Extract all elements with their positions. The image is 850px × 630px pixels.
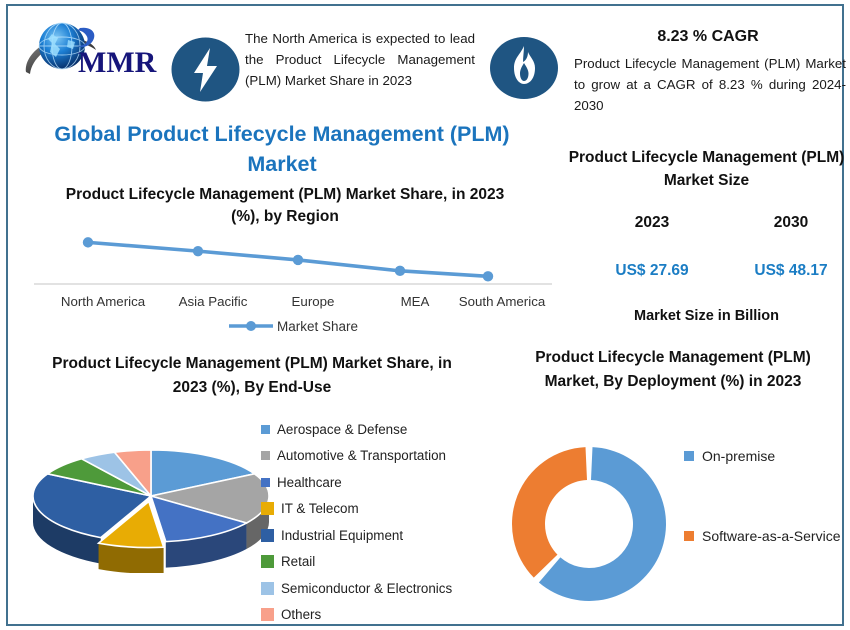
legend-swatch-semiconductor-electronics	[261, 582, 274, 595]
x-label-south-america: South America	[459, 294, 545, 309]
lightning-bolt-icon	[171, 35, 240, 109]
data-point-asia-pacific	[193, 246, 203, 256]
data-point-mea	[395, 266, 405, 276]
legend-label-market-share: Market Share	[277, 319, 358, 334]
x-label-north-america: North America	[61, 294, 145, 309]
line-chart-legend: Market Share	[28, 318, 558, 334]
legend-label-industrial-equipment: Industrial Equipment	[281, 528, 403, 543]
line-chart-title: Product Lifecycle Management (PLM) Marke…	[50, 184, 520, 228]
legend-item-retail: Retail	[261, 549, 501, 576]
legend-swatch-others	[261, 608, 274, 621]
legend-item-healthcare: Healthcare	[261, 469, 501, 496]
legend-label-others: Others	[281, 607, 321, 622]
legend-swatch-healthcare	[261, 478, 270, 487]
legend-label-software-as-a-service: Software-as-a-Service	[702, 526, 841, 546]
legend-item-software-as-a-service: Software-as-a-Service	[684, 526, 849, 546]
donut-slice-software-as-a-service	[512, 447, 587, 578]
mmr-logo: MMR	[22, 16, 172, 94]
legend-label-automotive-transportation: Automotive & Transportation	[277, 448, 446, 463]
legend-item-it-telecom: IT & Telecom	[261, 496, 501, 523]
infographic-frame: MMR The North America is expected to lea…	[6, 4, 844, 626]
svg-text:MMR: MMR	[78, 46, 157, 79]
legend-marker-market-share	[228, 320, 274, 332]
flame-icon	[489, 33, 559, 108]
legend-swatch-aerospace-defense	[261, 425, 270, 434]
end-use-pie-chart	[23, 438, 273, 573]
deployment-donut-chart	[505, 436, 675, 611]
market-size-title: Product Lifecycle Management (PLM) Marke…	[564, 146, 849, 192]
legend-swatch-retail	[261, 555, 274, 568]
market-size-value-2023: US$ 27.69	[592, 262, 712, 280]
x-label-europe: Europe	[292, 294, 335, 309]
legend-swatch-on-premise	[684, 451, 694, 461]
legend-label-aerospace-defense: Aerospace & Defense	[277, 422, 407, 437]
legend-label-healthcare: Healthcare	[277, 475, 342, 490]
page-title: Global Product Lifecycle Management (PLM…	[32, 119, 532, 179]
north-america-highlight-text: The North America is expected to lead th…	[245, 28, 475, 91]
legend-item-semiconductor-electronics: Semiconductor & Electronics	[261, 575, 501, 602]
deployment-donut-legend: On-premise Software-as-a-Service	[684, 446, 849, 546]
market-size-year-2030: 2030	[736, 214, 846, 232]
line-chart-x-labels: North America Asia Pacific Europe MEA So…	[28, 294, 558, 314]
market-size-unit-note: Market Size in Billion	[564, 308, 849, 324]
market-size-value-2030: US$ 48.17	[731, 262, 850, 280]
legend-label-retail: Retail	[281, 554, 315, 569]
end-use-pie-title: Product Lifecycle Management (PLM) Marke…	[42, 352, 462, 400]
legend-item-others: Others	[261, 602, 501, 629]
market-size-year-2023: 2023	[597, 214, 707, 232]
legend-swatch-automotive-transportation	[261, 451, 270, 460]
data-point-europe	[293, 255, 303, 265]
legend-item-aerospace-defense: Aerospace & Defense	[261, 416, 501, 443]
cagr-description: Product Lifecycle Management (PLM) Marke…	[574, 53, 846, 116]
legend-item-industrial-equipment: Industrial Equipment	[261, 522, 501, 549]
deployment-donut-title: Product Lifecycle Management (PLM) Marke…	[508, 346, 838, 394]
legend-swatch-software-as-a-service	[684, 531, 694, 541]
cagr-headline: 8.23 % CAGR	[568, 28, 848, 46]
legend-label-it-telecom: IT & Telecom	[281, 501, 359, 516]
data-point-south-america	[483, 271, 493, 281]
legend-swatch-industrial-equipment	[261, 529, 274, 542]
line-series-market-share	[88, 242, 488, 276]
legend-item-on-premise: On-premise	[684, 446, 849, 466]
end-use-pie-legend: Aerospace & Defense Automotive & Transpo…	[261, 416, 501, 628]
legend-label-semiconductor-electronics: Semiconductor & Electronics	[281, 581, 452, 596]
x-label-mea: MEA	[401, 294, 430, 309]
x-label-asia-pacific: Asia Pacific	[179, 294, 248, 309]
legend-swatch-it-telecom	[261, 502, 274, 515]
legend-item-automotive-transportation: Automotive & Transportation	[261, 443, 501, 470]
globe-logo-icon: MMR	[22, 16, 172, 94]
data-point-north-america	[83, 237, 93, 247]
legend-label-on-premise: On-premise	[702, 446, 775, 466]
